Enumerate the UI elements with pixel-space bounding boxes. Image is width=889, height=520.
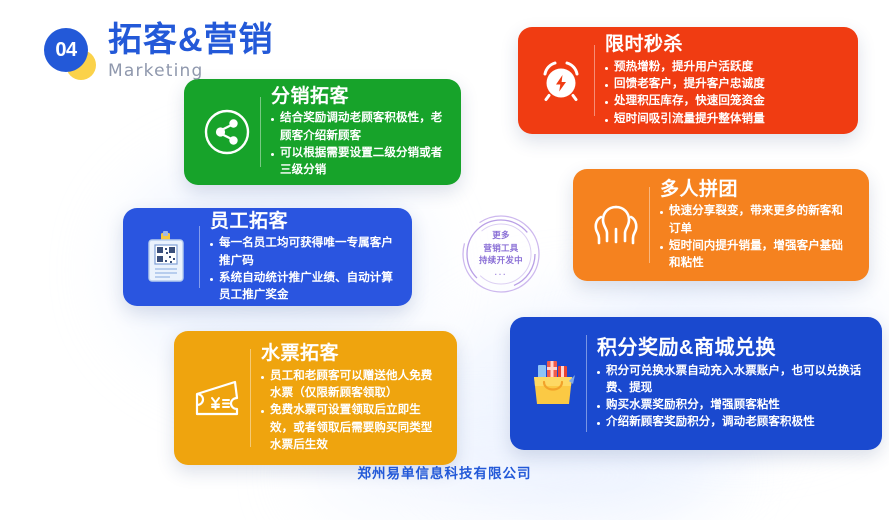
- card-divider: [260, 97, 261, 167]
- card-shuipiao[interactable]: 水票拓客 员工和老顾客可以赠送他人免费水票（仅限新顾客领取） 免费水票可设置领取…: [174, 331, 457, 465]
- card-bullet: 介绍新顾客奖励积分，调动老顾客积极性: [597, 414, 866, 431]
- card-divider: [199, 226, 200, 288]
- page-title: 拓客&营销: [108, 22, 274, 59]
- card-bullet: 短时间内提升销量，增强客户基础和粘性: [660, 238, 853, 273]
- card-bullet: 购买水票奖励积分，增强顾客粘性: [597, 397, 866, 414]
- card-divider: [586, 335, 587, 432]
- card-yuangong[interactable]: 员工拓客 每一名员工均可获得唯一专属客户推广码 系统自动统计推广业绩、自动计算员…: [123, 208, 412, 306]
- card-bullet: 结合奖励调动老顾客积极性，老顾客介绍新顾客: [271, 110, 445, 145]
- card-title: 多人拼团: [660, 178, 853, 202]
- card-pintuan[interactable]: 多人拼团 快速分享裂变，带来更多的新客和订单 短时间内提升销量，增强客户基础和粘…: [573, 169, 869, 281]
- card-bullet: 系统自动统计推广业绩、自动计算员工推广奖金: [210, 270, 396, 305]
- id-badge-qrcode-icon: [135, 231, 197, 283]
- more-tools-circle: 更多 营销工具 持续开发中 ...: [456, 206, 546, 302]
- card-bullet: 免费水票可设置领取后立即生效，或者领取后需要购买同类型水票后生效: [261, 402, 441, 454]
- card-bullet: 快速分享裂变，带来更多的新客和订单: [660, 203, 853, 238]
- card-divider: [594, 45, 595, 116]
- card-bullet: 员工和老顾客可以赠送他人免费水票（仅限新顾客领取）: [261, 368, 441, 403]
- more-line-4: ...: [479, 267, 523, 279]
- section-number-badge: 04: [44, 28, 96, 80]
- card-title: 积分奖励&商城兑换: [597, 336, 866, 361]
- card-bullet: 回馈老客户，提升客户忠诚度: [605, 76, 842, 93]
- card-bullets: 快速分享裂变，带来更多的新客和订单 短时间内提升销量，增强客户基础和粘性: [660, 203, 853, 272]
- card-title: 分销拓客: [271, 85, 445, 109]
- card-jifen[interactable]: 积分奖励&商城兑换 积分可兑换水票自动充入水票账户，也可以兑换话费、提现 购买水…: [510, 317, 882, 450]
- share-icon: [196, 108, 258, 156]
- card-divider: [250, 349, 251, 447]
- group-people-icon: [585, 199, 647, 251]
- section-number: 04: [44, 28, 88, 72]
- card-bullets: 结合奖励调动老顾客积极性，老顾客介绍新顾客 可以根据需要设置二级分销或者三级分销: [271, 110, 445, 179]
- gift-shopping-bag-icon: [522, 359, 584, 409]
- card-bullets: 每一名员工均可获得唯一专属客户推广码 系统自动统计推广业绩、自动计算员工推广奖金: [210, 235, 396, 304]
- footer-company-name: 郑州易单信息科技有限公司: [0, 462, 889, 482]
- card-title: 水票拓客: [261, 342, 441, 366]
- card-title: 限时秒杀: [605, 33, 842, 57]
- card-bullets: 预热增粉，提升用户活跃度 回馈老客户，提升客户忠诚度 处理积压库存，快速回笼资金…: [605, 59, 842, 128]
- more-line-1: 更多: [479, 229, 523, 242]
- card-divider: [649, 187, 650, 263]
- card-miaosha[interactable]: 限时秒杀 预热增粉，提升用户活跃度 回馈老客户，提升客户忠诚度 处理积压库存，快…: [518, 27, 858, 134]
- card-bullets: 积分可兑换水票自动充入水票账户，也可以兑换话费、提现 购买水票奖励积分，增强顾客…: [597, 363, 866, 432]
- card-bullet: 积分可兑换水票自动充入水票账户，也可以兑换话费、提现: [597, 363, 866, 398]
- page-subtitle: Marketing: [108, 61, 274, 81]
- ticket-yuan-icon: [186, 376, 248, 420]
- card-bullets: 员工和老顾客可以赠送他人免费水票（仅限新顾客领取） 免费水票可设置领取后立即生效…: [261, 368, 441, 454]
- alarm-clock-flash-icon: [530, 56, 592, 106]
- card-bullet: 每一名员工均可获得唯一专属客户推广码: [210, 235, 396, 270]
- card-bullet: 短时间吸引流量提升整体销量: [605, 111, 842, 128]
- card-fenxiao[interactable]: 分销拓客 结合奖励调动老顾客积极性，老顾客介绍新顾客 可以根据需要设置二级分销或…: [184, 79, 461, 185]
- card-bullet: 预热增粉，提升用户活跃度: [605, 59, 842, 76]
- card-title: 员工拓客: [210, 210, 396, 234]
- page-header: 04 拓客&营销 Marketing: [44, 22, 274, 81]
- more-line-3: 持续开发中: [479, 254, 523, 267]
- more-line-2: 营销工具: [479, 242, 523, 255]
- card-bullet: 可以根据需要设置二级分销或者三级分销: [271, 145, 445, 180]
- card-bullet: 处理积压库存，快速回笼资金: [605, 93, 842, 110]
